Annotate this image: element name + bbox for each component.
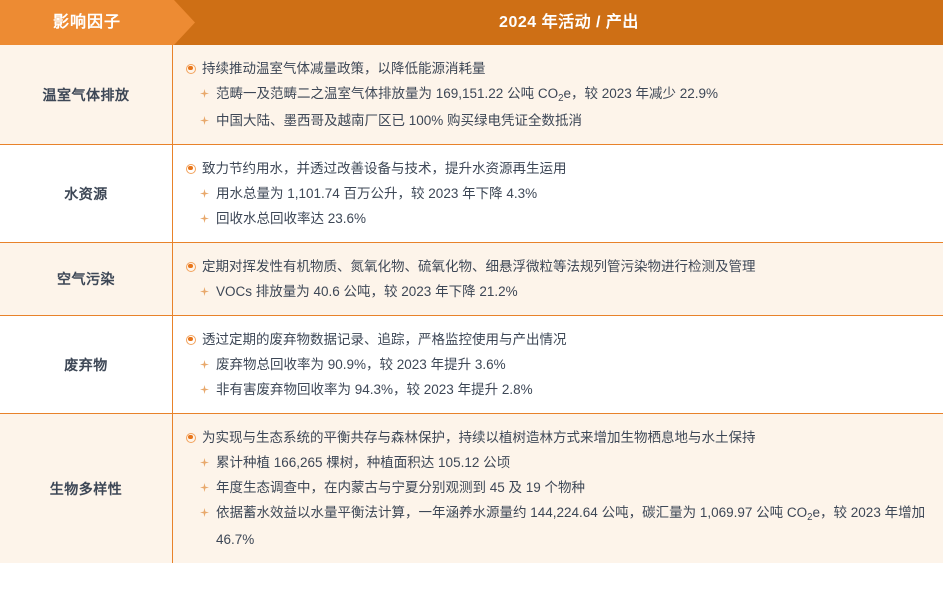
bullseye-bullet-icon	[186, 425, 202, 450]
bullet-text: 持续推动温室气体减量政策，以降低能源消耗量	[202, 56, 929, 81]
star-bullet-icon	[200, 279, 216, 304]
factor-label: 空气污染	[57, 269, 115, 289]
bullet-item-sub: 依据蓄水效益以水量平衡法计算，一年涵养水源量约 144,224.64 公吨，碳汇…	[200, 500, 929, 552]
bullet-item-main: 定期对挥发性有机物质、氮氧化物、硫氧化物、细悬浮微粒等法规列管污染物进行检测及管…	[186, 254, 929, 279]
factor-cell: 废弃物	[0, 316, 173, 413]
bullet-text: 年度生态调查中，在内蒙古与宁夏分别观测到 45 及 19 个物种	[216, 475, 929, 500]
table-row: 废弃物透过定期的废弃物数据记录、追踪，严格监控使用与产出情况废弃物总回收率为 9…	[0, 316, 943, 414]
table-body: 温室气体排放持续推动温室气体减量政策，以降低能源消耗量范畴一及范畴二之温室气体排…	[0, 45, 943, 563]
table-row: 温室气体排放持续推动温室气体减量政策，以降低能源消耗量范畴一及范畴二之温室气体排…	[0, 45, 943, 145]
bullet-item-main: 为实现与生态系统的平衡共存与森林保护，持续以植树造林方式来增加生物栖息地与水土保…	[186, 425, 929, 450]
subscript: 2	[558, 93, 563, 104]
bullet-text: 中国大陆、墨西哥及越南厂区已 100% 购买绿电凭证全数抵消	[216, 108, 929, 133]
bullet-item-sub: 回收水总回收率达 23.6%	[200, 206, 929, 231]
bullet-item-sub: 废弃物总回收率为 90.9%，较 2023 年提升 3.6%	[200, 352, 929, 377]
bullet-item-sub: 年度生态调查中，在内蒙古与宁夏分别观测到 45 及 19 个物种	[200, 475, 929, 500]
bullet-item-main: 致力节约用水，并透过改善设备与技术，提升水资源再生运用	[186, 156, 929, 181]
factor-cell: 生物多样性	[0, 414, 173, 563]
star-bullet-icon	[200, 181, 216, 206]
table-header: 影响因子 2024 年活动 / 产出	[0, 0, 943, 45]
bullet-text: 定期对挥发性有机物质、氮氧化物、硫氧化物、细悬浮微粒等法规列管污染物进行检测及管…	[202, 254, 929, 279]
factor-cell: 空气污染	[0, 243, 173, 315]
bullet-text: 非有害废弃物回收率为 94.3%，较 2023 年提升 2.8%	[216, 377, 929, 402]
bullseye-bullet-icon	[186, 56, 202, 81]
bullet-text: 用水总量为 1,101.74 百万公升，较 2023 年下降 4.3%	[216, 181, 929, 206]
factor-cell: 温室气体排放	[0, 45, 173, 144]
factor-label: 温室气体排放	[43, 85, 130, 105]
star-bullet-icon	[200, 377, 216, 402]
bullet-text-pre: 范畴一及范畴二之温室气体排放量为 169,151.22 公吨 CO	[216, 86, 558, 101]
bullseye-bullet-icon	[186, 327, 202, 352]
activity-cell: 为实现与生态系统的平衡共存与森林保护，持续以植树造林方式来增加生物栖息地与水土保…	[173, 414, 943, 563]
table-row: 空气污染定期对挥发性有机物质、氮氧化物、硫氧化物、细悬浮微粒等法规列管污染物进行…	[0, 243, 943, 316]
bullet-text: 为实现与生态系统的平衡共存与森林保护，持续以植树造林方式来增加生物栖息地与水土保…	[202, 425, 929, 450]
bullet-text: 累计种植 166,265 棵树，种植面积达 105.12 公顷	[216, 450, 929, 475]
star-bullet-icon	[200, 500, 216, 525]
table-row: 生物多样性为实现与生态系统的平衡共存与森林保护，持续以植树造林方式来增加生物栖息…	[0, 414, 943, 563]
header-activity-label: 2024 年活动 / 产出	[195, 0, 943, 45]
bullet-item-sub: 非有害废弃物回收率为 94.3%，较 2023 年提升 2.8%	[200, 377, 929, 402]
bullet-text: 致力节约用水，并透过改善设备与技术，提升水资源再生运用	[202, 156, 929, 181]
bullet-item-main: 持续推动温室气体减量政策，以降低能源消耗量	[186, 56, 929, 81]
bullet-item-sub: 范畴一及范畴二之温室气体排放量为 169,151.22 公吨 CO2e，较 20…	[200, 81, 929, 108]
factor-label: 生物多样性	[50, 479, 123, 499]
bullet-text: 依据蓄水效益以水量平衡法计算，一年涵养水源量约 144,224.64 公吨，碳汇…	[216, 500, 929, 552]
header-factor-label: 影响因子	[0, 0, 174, 45]
star-bullet-icon	[200, 475, 216, 500]
bullet-text-post: e，较 2023 年减少 22.9%	[563, 86, 718, 101]
factor-label: 水资源	[64, 184, 108, 204]
bullet-item-sub: VOCs 排放量为 40.6 公吨，较 2023 年下降 21.2%	[200, 279, 929, 304]
star-bullet-icon	[200, 108, 216, 133]
star-bullet-icon	[200, 352, 216, 377]
bullet-item-sub: 用水总量为 1,101.74 百万公升，较 2023 年下降 4.3%	[200, 181, 929, 206]
factor-label: 废弃物	[64, 355, 108, 375]
bullet-text: 范畴一及范畴二之温室气体排放量为 169,151.22 公吨 CO2e，较 20…	[216, 81, 929, 108]
bullet-item-sub: 中国大陆、墨西哥及越南厂区已 100% 购买绿电凭证全数抵消	[200, 108, 929, 133]
star-bullet-icon	[200, 81, 216, 106]
star-bullet-icon	[200, 450, 216, 475]
activity-cell: 定期对挥发性有机物质、氮氧化物、硫氧化物、细悬浮微粒等法规列管污染物进行检测及管…	[173, 243, 943, 315]
bullseye-bullet-icon	[186, 254, 202, 279]
bullet-text: 废弃物总回收率为 90.9%，较 2023 年提升 3.6%	[216, 352, 929, 377]
star-bullet-icon	[200, 206, 216, 231]
bullet-item-sub: 累计种植 166,265 棵树，种植面积达 105.12 公顷	[200, 450, 929, 475]
bullet-text: 回收水总回收率达 23.6%	[216, 206, 929, 231]
bullet-item-main: 透过定期的废弃物数据记录、追踪，严格监控使用与产出情况	[186, 327, 929, 352]
bullseye-bullet-icon	[186, 156, 202, 181]
activity-cell: 透过定期的废弃物数据记录、追踪，严格监控使用与产出情况废弃物总回收率为 90.9…	[173, 316, 943, 413]
subscript: 2	[807, 512, 812, 523]
esg-performance-table: 影响因子 2024 年活动 / 产出 温室气体排放持续推动温室气体减量政策，以降…	[0, 0, 943, 613]
activity-cell: 致力节约用水，并透过改善设备与技术，提升水资源再生运用用水总量为 1,101.7…	[173, 145, 943, 242]
bullet-text: VOCs 排放量为 40.6 公吨，较 2023 年下降 21.2%	[216, 279, 929, 304]
bullet-text-pre: 依据蓄水效益以水量平衡法计算，一年涵养水源量约 144,224.64 公吨，碳汇…	[216, 505, 807, 520]
bullet-text: 透过定期的废弃物数据记录、追踪，严格监控使用与产出情况	[202, 327, 929, 352]
activity-cell: 持续推动温室气体减量政策，以降低能源消耗量范畴一及范畴二之温室气体排放量为 16…	[173, 45, 943, 144]
factor-cell: 水资源	[0, 145, 173, 242]
table-row: 水资源致力节约用水，并透过改善设备与技术，提升水资源再生运用用水总量为 1,10…	[0, 145, 943, 243]
